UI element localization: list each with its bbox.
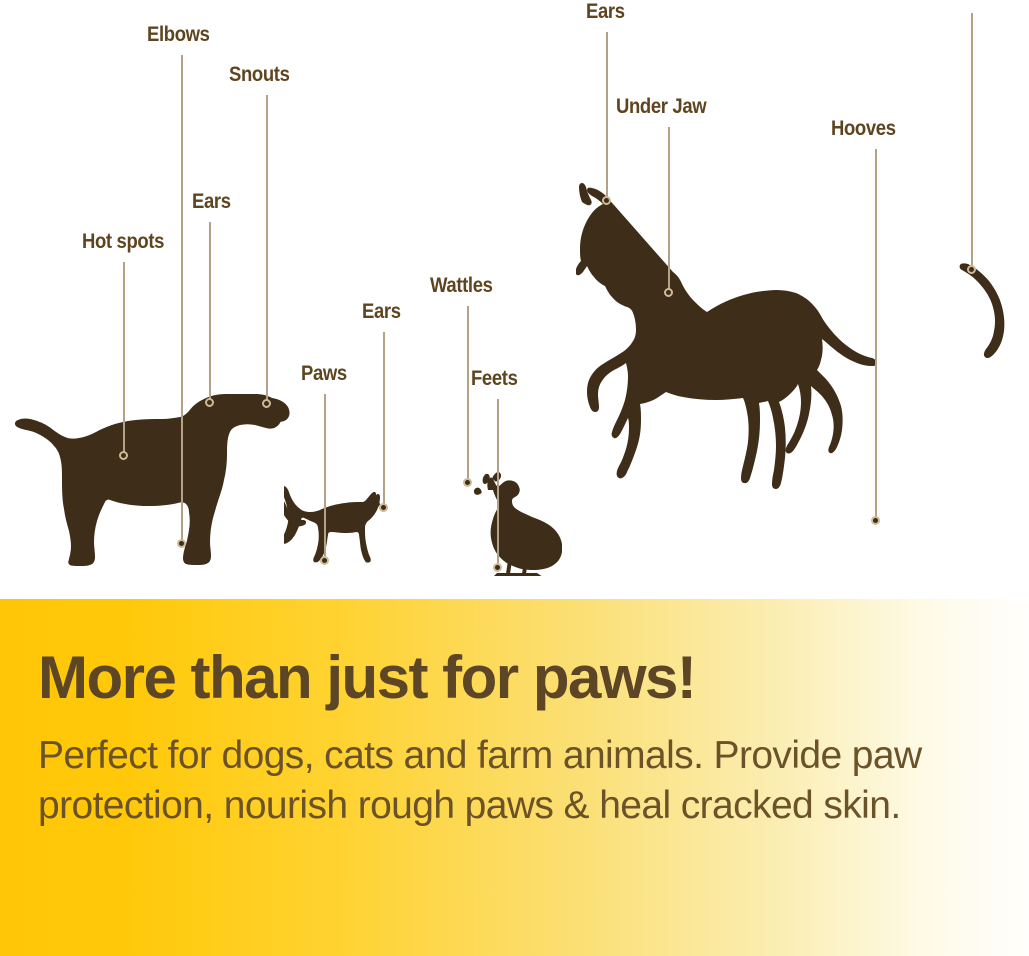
leader-line-feets: [497, 399, 499, 567]
callout-label-under-jaw: Under Jaw: [616, 96, 706, 117]
leader-dot-paws: [320, 556, 329, 565]
leader-line-hot-spots: [123, 262, 125, 455]
animal-diagram-panel: Hot spots Elbows Ears Snouts: [0, 0, 1029, 599]
leader-dot-wattles: [463, 478, 472, 487]
leader-dot-base-of-tail: [967, 265, 976, 274]
leader-line-base-of-tail: [971, 13, 973, 269]
promo-panel: More than just for paws! Perfect for dog…: [0, 599, 1029, 956]
leader-line-wattles: [467, 306, 469, 482]
leader-dot-elbows: [177, 539, 186, 548]
leader-dot-ears-horse: [602, 196, 611, 205]
leader-dot-under-jaw: [664, 288, 673, 297]
leader-line-ears-cat: [383, 332, 385, 507]
leader-line-ears-dog: [209, 222, 211, 402]
leader-line-snouts: [266, 95, 268, 403]
callout-label-hooves: Hooves: [831, 118, 896, 139]
callout-label-ears-cat: Ears: [362, 301, 401, 322]
callout-labels-layer: Hot spots Elbows Ears Snouts: [0, 0, 1029, 599]
leader-line-hooves: [875, 149, 877, 520]
leader-dot-hot-spots: [119, 451, 128, 460]
callout-label-hot-spots: Hot spots: [82, 231, 164, 252]
leader-dot-hooves: [871, 516, 880, 525]
promo-heading: More than just for paws!: [38, 648, 695, 708]
callout-label-elbows: Elbows: [147, 24, 210, 45]
callout-label-snouts: Snouts: [229, 64, 290, 85]
callout-label-feets: Feets: [471, 368, 518, 389]
callout-label-ears-dog: Ears: [192, 191, 231, 212]
callout-label-wattles: Wattles: [430, 275, 493, 296]
leader-dot-feets: [493, 563, 502, 572]
infographic-root: Hot spots Elbows Ears Snouts: [0, 0, 1029, 956]
callout-label-base-of-tail: Base of tail: [912, 0, 1006, 3]
leader-line-paws: [324, 394, 326, 560]
leader-dot-ears-cat: [379, 503, 388, 512]
leader-line-under-jaw: [668, 127, 670, 292]
callout-label-paws: Paws: [301, 363, 347, 384]
leader-dot-ears-dog: [205, 398, 214, 407]
leader-dot-snouts: [262, 399, 271, 408]
promo-body: Perfect for dogs, cats and farm animals.…: [38, 731, 978, 831]
leader-line-elbows: [181, 55, 183, 543]
callout-label-ears-horse: Ears: [586, 1, 625, 22]
leader-line-ears-horse: [606, 32, 608, 200]
